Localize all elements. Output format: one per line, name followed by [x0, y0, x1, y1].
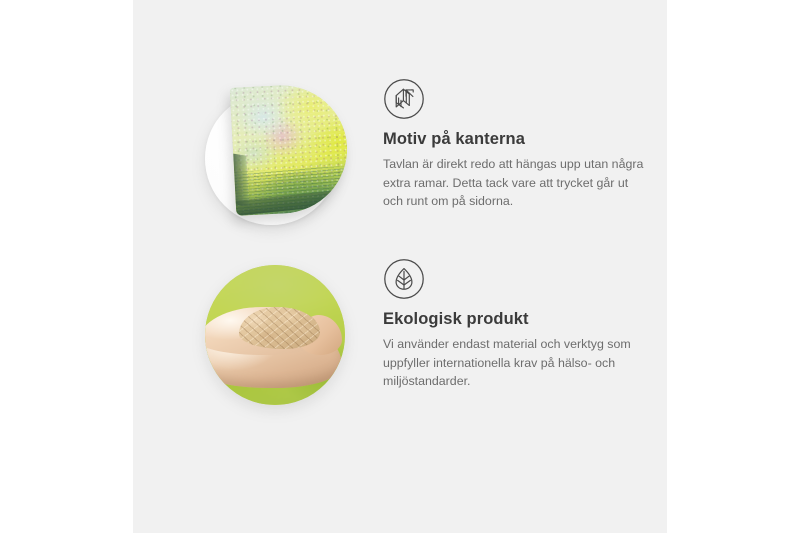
left-white-band	[0, 0, 133, 533]
canvas-edge-wrap-icon	[383, 78, 425, 120]
canvas-side-edge	[233, 153, 249, 206]
wood-chips-in-hands-photo	[205, 265, 345, 405]
feature-text-edges: Motiv på kanterna Tavlan är direkt redo …	[383, 130, 651, 211]
product-feature-panel: Motiv på kanterna Tavlan är direkt redo …	[0, 0, 800, 533]
canvas-print-corner-photo	[205, 85, 345, 225]
content-panel: Motiv på kanterna Tavlan är direkt redo …	[133, 0, 667, 533]
leaf-icon	[383, 258, 425, 300]
feature-title-edges: Motiv på kanterna	[383, 130, 651, 150]
feature-text-eco: Ekologisk produkt Vi använder endast mat…	[383, 310, 651, 391]
photo-disc	[205, 265, 345, 405]
feature-body-eco: Vi använder endast material och verktyg …	[383, 335, 651, 392]
feature-block-edges: Motiv på kanterna Tavlan är direkt redo …	[133, 78, 667, 253]
feature-block-eco: Ekologisk produkt Vi använder endast mat…	[133, 258, 667, 433]
feature-body-edges: Tavlan är direkt redo att hängas upp uta…	[383, 155, 651, 212]
right-white-band	[667, 0, 800, 533]
canvas-corner-shape	[230, 82, 351, 216]
feature-title-eco: Ekologisk produkt	[383, 310, 651, 330]
